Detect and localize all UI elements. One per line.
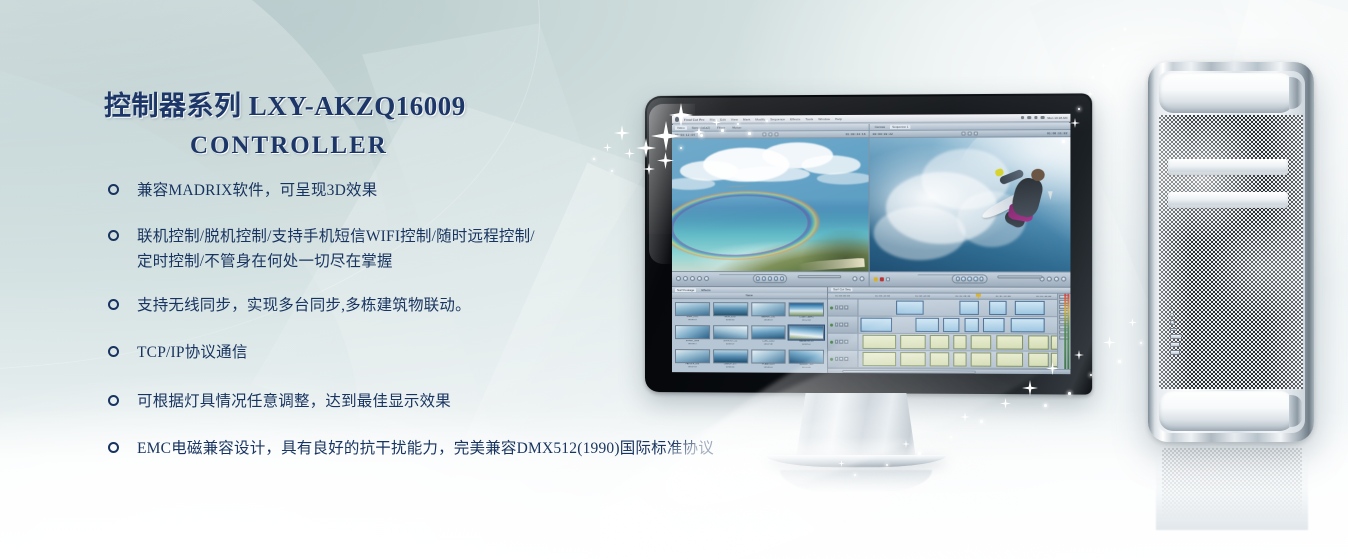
canvas-video-canvas[interactable] <box>870 137 1071 271</box>
clip-label: COAST_AER1 <box>862 330 879 332</box>
clip-label: MUSIC_OUT <box>1029 348 1044 350</box>
surfer-figure <box>996 167 1057 229</box>
tab-filters[interactable]: Filters <box>715 126 727 130</box>
track-lock-toggle[interactable] <box>845 306 848 309</box>
video-clip[interactable]: RIDE_0247 <box>915 318 938 332</box>
ruler-tick-label: 01:00:20:00 <box>875 294 890 297</box>
video-clip[interactable]: SPRAY_0088 <box>964 318 979 332</box>
track-lock-toggle[interactable] <box>835 306 838 309</box>
tower-workstation: ⑄ <box>1148 62 1314 442</box>
track-lock-toggle[interactable] <box>835 357 838 360</box>
clip-label: NAT_SFX <box>971 365 983 367</box>
battery-icon[interactable] <box>1041 116 1045 120</box>
viewer-tools <box>762 132 778 136</box>
tab-surf-cut-seq[interactable]: Surf Cut Seq <box>831 288 852 292</box>
video-clip[interactable]: LOGO_01 <box>989 301 1006 315</box>
track-lane[interactable]: COAST_AER1RIDE_0247BARREL_031SPRAY_0088C… <box>858 317 1070 334</box>
clip-thumbnail[interactable] <box>789 325 824 339</box>
clip-label: NAT_SFX <box>971 348 983 350</box>
bullet-circle-icon <box>108 230 119 241</box>
audio-clip[interactable]: WAVE_AMB <box>930 352 949 366</box>
clip-duration: 00:04:02 <box>713 319 748 322</box>
browser-clip-item[interactable]: FOAM_011900:04:14 <box>751 349 786 370</box>
track-lane[interactable]: MUSIC_MIXNAT_SFXWAVE_AMBVO_TAKE3NAT_SFXS… <box>858 334 1070 351</box>
browser-clip-item[interactable]: RAINBOW_0100:09:22 <box>789 325 824 346</box>
usb-port[interactable] <box>1170 342 1180 347</box>
audio-clip[interactable]: NAT_SFX <box>970 335 991 349</box>
go-to-next-edit-button[interactable] <box>979 277 984 281</box>
generator-button[interactable] <box>859 276 864 281</box>
feature-text: TCP/IP协议通信 <box>137 340 248 365</box>
tab-video[interactable]: Video <box>675 126 687 130</box>
ruler-tick-label: 01:01:40:00 <box>1036 295 1051 298</box>
recent-clips-button[interactable] <box>852 276 857 281</box>
track-lane[interactable]: TITLE_AXFER_02LOGO_01SURF_0112 <box>858 299 1070 316</box>
title-line-2: CONTROLLER <box>104 132 704 160</box>
add-marker-button[interactable] <box>690 276 695 281</box>
monitor-screen: Final Cut Pro File Edit View Mark Modify… <box>672 114 1070 374</box>
tower-reflection-mesh <box>1162 448 1302 518</box>
bullet-circle-icon <box>108 346 119 357</box>
canvas-transport-bar <box>870 271 1071 286</box>
viewer-output-buttons <box>852 276 864 281</box>
mark-clip-button[interactable] <box>683 276 688 281</box>
tab-surf-footage[interactable]: Surf Footage <box>675 288 696 292</box>
viewer-transport-bar <box>672 271 869 286</box>
spray-shape <box>874 207 966 260</box>
canvas-timecode-out[interactable]: 01:00:11:02 <box>1047 132 1067 135</box>
browser-clip-item[interactable]: SURF_011200:06:14 <box>675 302 710 323</box>
fcp-window: Video Stereo (a1a2) Filters Motion 00:00… <box>672 123 1070 374</box>
timeline-track: MUSIC_MIXNAT_SFXWAVE_AMBVO_TAKE3NAT_SFXS… <box>828 334 1070 352</box>
track-lock-toggle[interactable] <box>845 357 848 360</box>
timecode-out[interactable]: 01:00:24:16 <box>845 133 865 136</box>
clip-label: XFER_02 <box>961 313 973 315</box>
headphone-jack[interactable] <box>1170 320 1175 325</box>
timecode-popup-icon[interactable] <box>974 132 978 136</box>
clip-label: SPRAY_0088 <box>965 331 979 333</box>
track-lock-toggle[interactable] <box>840 306 843 309</box>
cloud-shape <box>817 173 868 185</box>
track-controls[interactable] <box>828 299 858 315</box>
menu-item-help[interactable]: Help <box>835 117 842 121</box>
viewer-jog-control[interactable] <box>797 275 840 278</box>
volume-icon[interactable] <box>1034 116 1038 120</box>
track-controls[interactable] <box>828 351 858 367</box>
ruler-tick-label: 01:01:00:00 <box>955 295 970 298</box>
tab-sequence-1[interactable]: Sequence 1 <box>890 125 910 129</box>
title-line-1: 控制器系列 LXY-AKZQ16009 <box>104 84 704 123</box>
feature-text: EMC电磁兼容设计，具有良好的抗干扰能力，完美兼容DMX512(1990)国际标… <box>137 436 714 461</box>
menu-item-mark[interactable]: Mark <box>743 117 750 121</box>
bullet-circle-icon <box>108 299 119 310</box>
menu-item-tools[interactable]: Tools <box>805 117 813 121</box>
track-controls[interactable] <box>828 317 858 333</box>
audio-clip[interactable]: NAT_SFX <box>970 352 991 366</box>
airport-icon[interactable] <box>1027 116 1031 120</box>
clip-label: RIDE_0247 <box>916 330 930 332</box>
clip-thumbnail[interactable] <box>713 302 748 316</box>
cloud-shape <box>672 178 715 190</box>
zoom-popup-icon[interactable] <box>762 132 766 136</box>
track-visibility-toggle[interactable] <box>830 323 833 326</box>
bullet-circle-icon <box>108 184 119 195</box>
tower-bottom-handle <box>1159 391 1294 431</box>
viewer-pane: Video Stereo (a1a2) Filters Motion 00:00… <box>672 124 870 286</box>
clip-label: SURF_IMPACT <box>997 365 1015 367</box>
browser-clip-item[interactable]: LINEUP_07700:06:01 <box>713 349 748 370</box>
browser-clip-item[interactable]: BARREL_03100:08:19 <box>751 302 786 323</box>
clip-thumbnail[interactable] <box>713 349 748 363</box>
usb-port[interactable] <box>1170 334 1182 339</box>
viewer-video-canvas[interactable] <box>672 138 869 271</box>
canvas-mode-chips <box>874 277 890 281</box>
video-clip[interactable]: CURL_0430 <box>983 318 1004 332</box>
timecode-popup-icon[interactable] <box>774 132 778 136</box>
browser-clip-item[interactable]: WIPEOUT_0200:05:27 <box>713 325 748 346</box>
playhead[interactable] <box>978 294 979 299</box>
bluetooth-icon[interactable] <box>1021 116 1025 120</box>
apple-logo-icon[interactable] <box>675 117 679 122</box>
clip-label: WAVE_AMB <box>931 365 945 367</box>
feature-text-line2: 定时控制/不管身在何处一切尽在掌握 <box>137 249 535 274</box>
clip-label: TITLE_A <box>897 313 908 315</box>
cloud-shape <box>801 155 860 174</box>
browser-clip-item[interactable]: SUNSET_00900:10:06 <box>789 349 824 370</box>
clip-label: MUSIC_MIX <box>864 365 878 367</box>
go-to-previous-edit-button[interactable] <box>756 276 760 280</box>
zoom-popup-icon[interactable] <box>961 132 965 136</box>
track-lane[interactable]: MUSIC_MIXNAT_SFXWAVE_AMBVO_TAKE3NAT_SFXS… <box>858 351 1070 368</box>
clip-label: SURF_0112 <box>1016 314 1030 316</box>
display-monitor: Final Cut Pro File Edit View Mark Modify… <box>645 96 1090 396</box>
clip-label: MUSIC_MIX <box>864 347 878 349</box>
timeline-scrollbar[interactable] <box>828 368 1070 374</box>
firewire-icon: ⑄ <box>1170 306 1172 310</box>
clip-duration: 00:06:01 <box>713 367 748 370</box>
clip-duration: 00:05:27 <box>713 343 748 346</box>
menu-status-area: Mon 10:18 AM <box>1021 115 1068 119</box>
toggle-chip[interactable] <box>886 277 890 281</box>
audio-clip[interactable]: WAVE_AMB <box>930 335 949 349</box>
menu-item-effects[interactable]: Effects <box>790 117 800 121</box>
audio-clip[interactable]: NAT_SFX <box>901 335 926 349</box>
timeline-scroll-thumb[interactable] <box>842 370 975 374</box>
audio-meter <box>1064 294 1069 369</box>
video-clip[interactable]: SUNSET_009 <box>1011 318 1045 332</box>
go-to-previous-edit-button[interactable] <box>955 277 959 281</box>
clip-label: NAT_SFX <box>902 365 914 367</box>
menu-item-file[interactable]: File <box>710 117 715 121</box>
tab-stereo[interactable]: Stereo (a1a2) <box>690 126 712 130</box>
track-visibility-toggle[interactable] <box>830 306 833 309</box>
browser-panel: Surf Footage Effects Name SURF_011200:06… <box>672 287 828 373</box>
clip-thumbnail[interactable] <box>751 349 786 363</box>
browser-clip-item[interactable]: PADDLE_05500:02:18 <box>675 349 710 370</box>
canvas-edit-buttons <box>1040 277 1067 282</box>
clip-label: VO_TAKE3 <box>954 348 966 350</box>
mark-in-button[interactable] <box>697 276 702 281</box>
monitor-bezel: Final Cut Pro File Edit View Mark Modify… <box>645 93 1092 394</box>
clip-label: SUNSET_009 <box>1012 331 1028 333</box>
audio-clip[interactable]: MUSIC_OUT <box>1028 335 1049 349</box>
surfer-head <box>1031 169 1044 181</box>
track-visibility-toggle[interactable] <box>830 357 833 360</box>
canvas-pane: Canvas Sequence 1 00:00:08:22 0 <box>870 123 1071 286</box>
timeline-track: TITLE_AXFER_02LOGO_01SURF_0112 <box>828 299 1070 317</box>
viewer-row: Video Stereo (a1a2) Filters Motion 00:00… <box>672 123 1070 286</box>
banner-stage: 控制器系列 LXY-AKZQ16009 CONTROLLER 兼容MADRIX软… <box>0 0 1348 559</box>
track-lock-toggle[interactable] <box>845 340 848 343</box>
browser-clip-item[interactable]: RIDE_024700:04:02 <box>713 302 748 323</box>
menu-item-window[interactable]: Window <box>818 117 830 121</box>
clip-duration: 00:09:22 <box>789 343 824 346</box>
browser-clip-item[interactable]: CURL_043000:07:08 <box>751 325 786 346</box>
timeline-track: COAST_AER1RIDE_0247BARREL_031SPRAY_0088C… <box>828 317 1070 335</box>
surfer-wetsuit <box>1010 175 1045 218</box>
play-around-current-button[interactable] <box>774 276 778 280</box>
rainbow-coastline-image <box>672 138 869 271</box>
optical-drive-slot[interactable] <box>1168 192 1288 208</box>
tab-canvas[interactable]: Canvas <box>873 125 887 129</box>
menu-item-sequence[interactable]: Sequence <box>770 117 785 121</box>
feature-text: 兼容MADRIX软件，可呈现3D效果 <box>137 178 377 203</box>
track-controls[interactable] <box>828 334 858 350</box>
clip-label: SURF_IMPACT <box>997 348 1015 350</box>
tab-motion[interactable]: Motion <box>730 126 743 130</box>
tower-top-handle <box>1159 73 1294 113</box>
play-button[interactable] <box>967 277 971 281</box>
track-lock-toggle[interactable] <box>835 323 838 326</box>
page-title: 控制器系列 LXY-AKZQ16009 CONTROLLER <box>104 84 704 160</box>
browser-clip-item[interactable]: SPRAY_008800:03:11 <box>675 325 710 346</box>
record-chip[interactable] <box>880 277 884 281</box>
replace-edit-button[interactable] <box>1054 277 1059 282</box>
clip-thumbnail[interactable] <box>789 349 824 363</box>
go-to-next-edit-button[interactable] <box>780 276 784 280</box>
view-popup-icon[interactable] <box>768 132 772 136</box>
browser-clip-grid: SURF_011200:06:14RIDE_024700:04:02BARREL… <box>672 299 827 373</box>
list-item: EMC电磁兼容设计，具有良好的抗干扰能力，完美兼容DMX512(1990)国际标… <box>104 436 864 461</box>
clip-duration: 00:02:18 <box>675 366 710 369</box>
clip-label: CURL_0430 <box>984 331 998 333</box>
firewire-800-port[interactable] <box>1170 350 1180 355</box>
timecode-in[interactable]: 00:00:12:04 <box>675 133 695 136</box>
track-lock-toggle[interactable] <box>840 323 843 326</box>
video-clip[interactable]: BARREL_031 <box>943 318 960 332</box>
surfer-spray-image <box>870 137 1071 271</box>
clip-duration: 00:06:14 <box>675 319 710 322</box>
menu-app-name[interactable]: Final Cut Pro <box>684 117 705 121</box>
canvas-jog-control[interactable] <box>998 275 1042 278</box>
mark-out-button[interactable] <box>704 276 709 281</box>
clip-label: WAVE_AMB <box>931 348 945 350</box>
clip-thumbnail[interactable] <box>751 325 786 339</box>
viewer-playback-controls[interactable] <box>752 274 787 282</box>
firewire-port[interactable] <box>1170 328 1177 331</box>
track-lock-toggle[interactable] <box>840 340 843 343</box>
audio-clip[interactable]: NAT_SFX <box>901 352 926 366</box>
video-clip[interactable]: SURF_0112 <box>1015 301 1045 315</box>
audio-clip[interactable]: VO_TAKE3 <box>953 335 966 349</box>
fit-to-fill-button[interactable] <box>1061 277 1066 282</box>
match-frame-button[interactable] <box>676 276 681 281</box>
feature-text: 联机控制/脱机控制/支持手机短信WIFI控制/随时远程控制/定时控制/不管身在何… <box>137 224 535 274</box>
feature-text: 可根据灯具情况任意调整，达到最佳显示效果 <box>137 389 451 414</box>
menu-item-view[interactable]: View <box>731 117 738 121</box>
tower-front-port-cluster: ⑄ <box>1170 306 1186 355</box>
feature-text: 支持无线同步，实现多台同步,多栋建筑物联动。 <box>137 293 471 318</box>
clip-duration: 00:03:11 <box>675 343 710 346</box>
clip-thumbnail[interactable] <box>675 349 710 363</box>
tab-effects[interactable]: Effects <box>699 288 712 292</box>
clip-duration: 00:12:03 <box>789 320 824 323</box>
clip-duration: 00:10:06 <box>789 367 824 370</box>
view-popup-icon[interactable] <box>968 132 972 136</box>
clip-thumbnail[interactable] <box>751 302 786 316</box>
clip-thumbnail[interactable] <box>789 302 824 316</box>
optical-drive-slot[interactable] <box>1168 159 1288 175</box>
video-clip[interactable]: TITLE_A <box>896 301 923 315</box>
lower-row: Surf Footage Effects Name SURF_011200:06… <box>672 286 1070 375</box>
play-button[interactable] <box>768 276 772 280</box>
tower-aluminum-shell: ⑄ <box>1148 62 1314 442</box>
track-lock-toggle[interactable] <box>835 340 838 343</box>
clip-duration: 00:04:14 <box>751 367 786 370</box>
audio-clip[interactable]: SURF_IMPACT <box>996 335 1024 349</box>
audio-clip[interactable]: SURF_IMPACT <box>996 352 1024 366</box>
track-visibility-toggle[interactable] <box>830 340 833 343</box>
track-lock-toggle[interactable] <box>840 357 843 360</box>
canvas-playback-controls[interactable] <box>952 275 988 284</box>
render-status-yellow-chip[interactable] <box>874 277 878 281</box>
clip-thumbnail[interactable] <box>675 302 710 316</box>
audio-clip[interactable]: VO_TAKE3 <box>953 352 966 366</box>
canvas-tools <box>961 132 977 136</box>
timeline-panel: Surf Cut Seq 01:00:00:0001:00:20:0001:00… <box>828 287 1070 374</box>
track-lock-toggle[interactable] <box>845 323 848 326</box>
clip-label: VO_TAKE3 <box>954 365 966 367</box>
viewer-edit-buttons <box>676 276 709 281</box>
timeline-tracks: TITLE_AXFER_02LOGO_01SURF_0112COAST_AER1… <box>828 299 1070 369</box>
ruler-tick-label: 01:00:00:00 <box>835 294 850 297</box>
clip-label: BARREL_031 <box>944 331 960 333</box>
cloud-shape <box>731 166 810 182</box>
canvas-timecode-in[interactable]: 00:00:08:22 <box>873 132 893 135</box>
clip-label: NAT_SFX <box>902 348 914 350</box>
audio-clip[interactable]: MUSIC_MIX <box>863 335 897 349</box>
ruler-tick-label: 01:01:20:00 <box>996 295 1011 298</box>
menu-clock[interactable]: Mon 10:18 AM <box>1047 115 1067 119</box>
power-led <box>1170 313 1174 317</box>
bullet-circle-icon <box>108 395 119 406</box>
play-in-to-out-button[interactable] <box>762 276 766 280</box>
clip-label: MUSIC_OUT <box>1029 365 1044 367</box>
clip-duration: 00:07:08 <box>751 343 786 346</box>
menu-item-edit[interactable]: Edit <box>720 117 726 121</box>
timeline-track: MUSIC_MIXNAT_SFXWAVE_AMBVO_TAKE3NAT_SFXS… <box>828 351 1070 369</box>
clip-duration: 00:08:19 <box>751 320 786 323</box>
browser-clip-item[interactable]: COAST_AER100:12:03 <box>789 302 824 323</box>
clip-label: LOGO_01 <box>990 313 1002 315</box>
clip-thumbnail[interactable] <box>675 325 710 339</box>
audio-clip[interactable]: MUSIC_OUT <box>1028 353 1049 367</box>
video-clip[interactable]: XFER_02 <box>960 301 979 315</box>
video-clip[interactable]: COAST_AER1 <box>861 318 893 332</box>
monitor-stand-neck <box>796 393 916 459</box>
ruler-tick-label: 01:00:40:00 <box>915 295 930 298</box>
play-around-current-button[interactable] <box>973 277 978 281</box>
bullet-circle-icon <box>108 442 119 453</box>
audio-clip[interactable]: MUSIC_MIX <box>863 352 897 366</box>
menu-item-modify[interactable]: Modify <box>755 117 765 121</box>
wetsuit-logo <box>1048 191 1053 200</box>
play-in-to-out-button[interactable] <box>961 277 965 281</box>
overwrite-edit-button[interactable] <box>1047 277 1052 282</box>
clip-thumbnail[interactable] <box>713 325 748 339</box>
